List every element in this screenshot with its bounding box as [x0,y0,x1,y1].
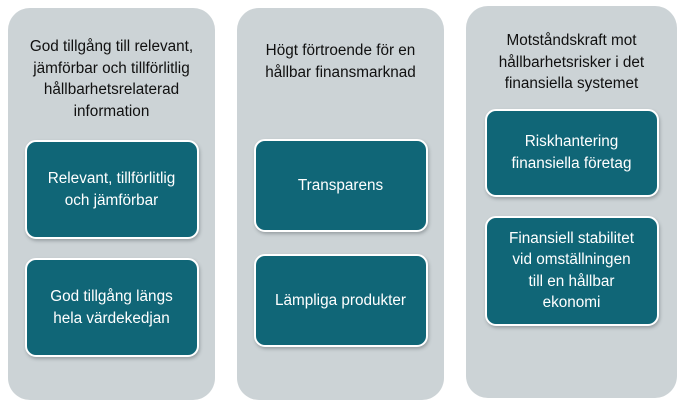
goal-box-suitable-products[interactable]: Lämpliga produkter [254,254,428,347]
goal-panel-2-title: Högt förtroende för en hållbar finansmar… [237,40,444,83]
goal-panel-1-boxes: Relevant, tillförlitlig och jämförbar Go… [8,140,215,357]
goal-panel-2-boxes: Transparens Lämpliga produkter [237,139,444,347]
goal-panel-2: Högt förtroende för en hållbar finansmar… [237,8,444,400]
goal-panel-3-boxes: Riskhantering finansiella företag Finans… [466,109,677,326]
goals-diagram: God tillgång till relevant, jämförbar oc… [0,0,685,408]
goal-box-value-chain-access[interactable]: God tillgång längs hela värdekedjan [25,258,199,357]
goal-box-financial-stability[interactable]: Finansiell stabilitet vid omställningen … [485,216,659,326]
goal-panel-3-title: Motståndskraft mot hållbarhetsrisker i d… [466,30,677,95]
goal-panel-1-title: God tillgång till relevant, jämförbar oc… [8,36,215,122]
goal-panel-3: Motståndskraft mot hållbarhetsrisker i d… [466,6,677,398]
goal-box-relevant-comparable[interactable]: Relevant, tillförlitlig och jämförbar [25,140,199,239]
goal-box-transparency[interactable]: Transparens [254,139,428,232]
goal-panel-1: God tillgång till relevant, jämförbar oc… [8,8,215,400]
goal-box-risk-management[interactable]: Riskhantering finansiella företag [485,109,659,197]
